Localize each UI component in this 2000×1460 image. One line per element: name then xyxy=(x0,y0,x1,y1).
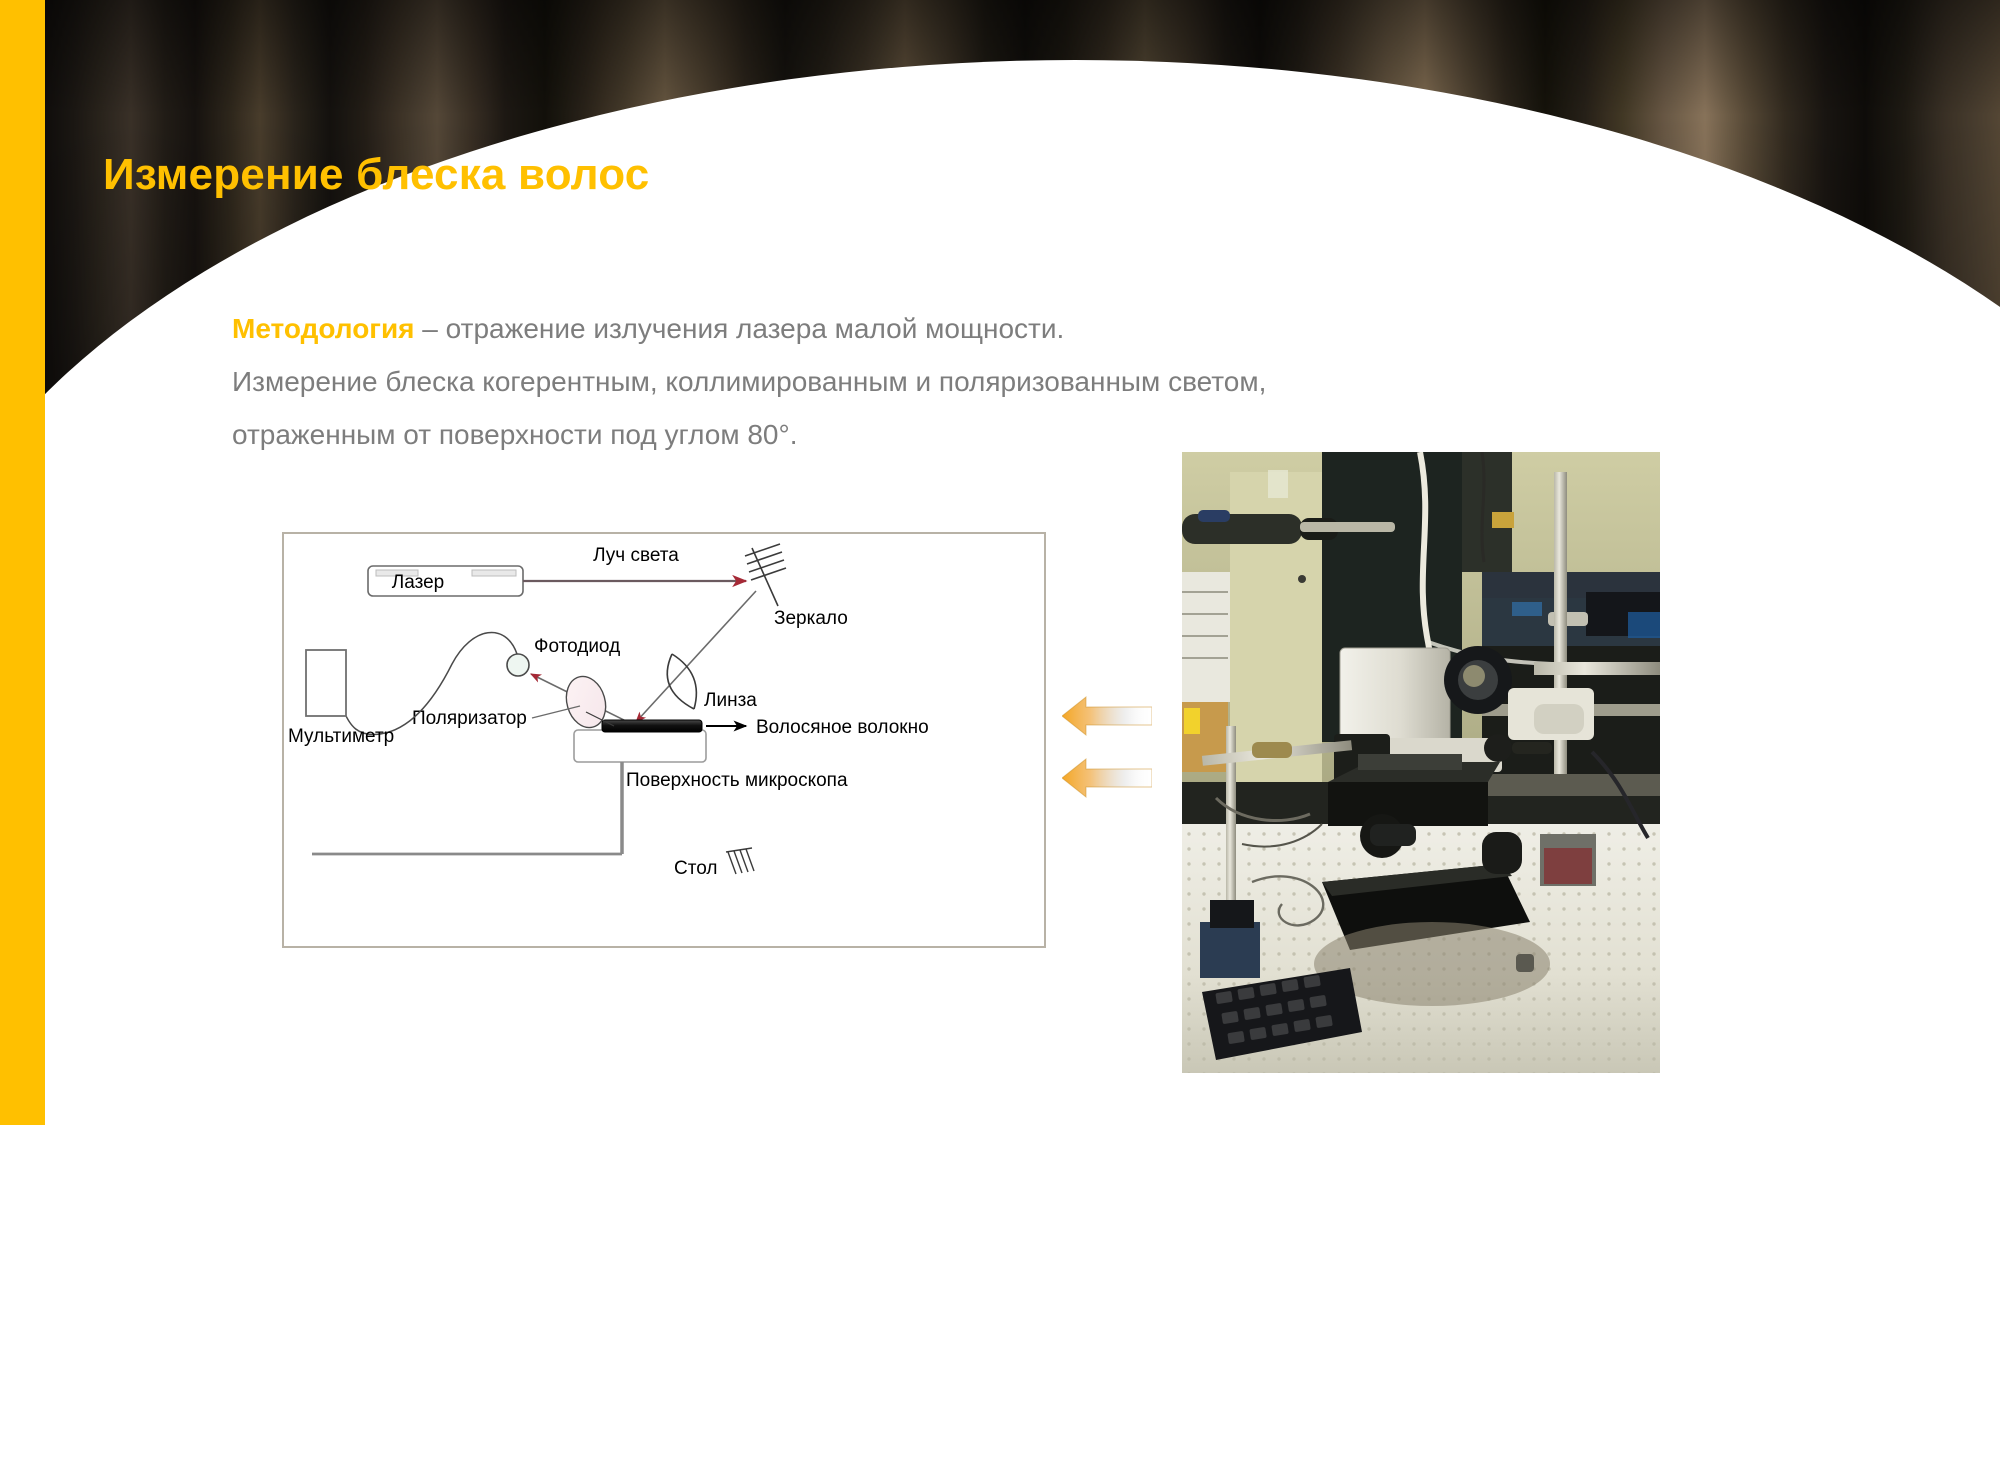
body-text-block: Методология – отражение излучения лазера… xyxy=(232,302,1482,461)
orange-arrow-1 xyxy=(1062,693,1152,739)
lab-setup-photo xyxy=(1182,452,1660,1073)
diagram-label-multimeter: Мультиметр xyxy=(288,726,394,747)
lens-component xyxy=(667,654,696,709)
optical-setup-diagram: Лазер Луч света Зеркало Линза Поляризато… xyxy=(282,532,1046,948)
body-line-2: Измерение блеска когерентным, коллимиров… xyxy=(232,355,1482,408)
page-title: Измерение блеска волос xyxy=(103,150,649,200)
diagram-label-beam: Луч света xyxy=(593,545,679,566)
body-line-1: Методология – отражение излучения лазера… xyxy=(232,302,1482,355)
multimeter-component xyxy=(306,650,346,716)
diagram-label-table: Стол xyxy=(674,858,717,879)
photodiode-component xyxy=(507,654,529,676)
methodology-label: Методология xyxy=(232,313,415,344)
diagram-label-lens: Линза xyxy=(704,690,757,711)
orange-arrow-2 xyxy=(1062,755,1152,801)
methodology-rest: – отражение излучения лазера малой мощно… xyxy=(415,313,1065,344)
diagram-label-mirror: Зеркало xyxy=(774,608,848,629)
left-accent-bar xyxy=(0,0,45,1125)
diagram-label-photodiode: Фотодиод xyxy=(534,636,620,657)
diagram-label-microscope-surface: Поверхность микроскопа xyxy=(626,770,848,791)
laser-component: Лазер xyxy=(368,566,523,596)
table-hatch-icon xyxy=(726,848,754,874)
diagram-label-polarizer: Поляризатор xyxy=(412,708,527,729)
diagram-label-laser: Лазер xyxy=(392,572,444,593)
diagram-label-hair-fiber: Волосяное волокно xyxy=(756,717,929,738)
